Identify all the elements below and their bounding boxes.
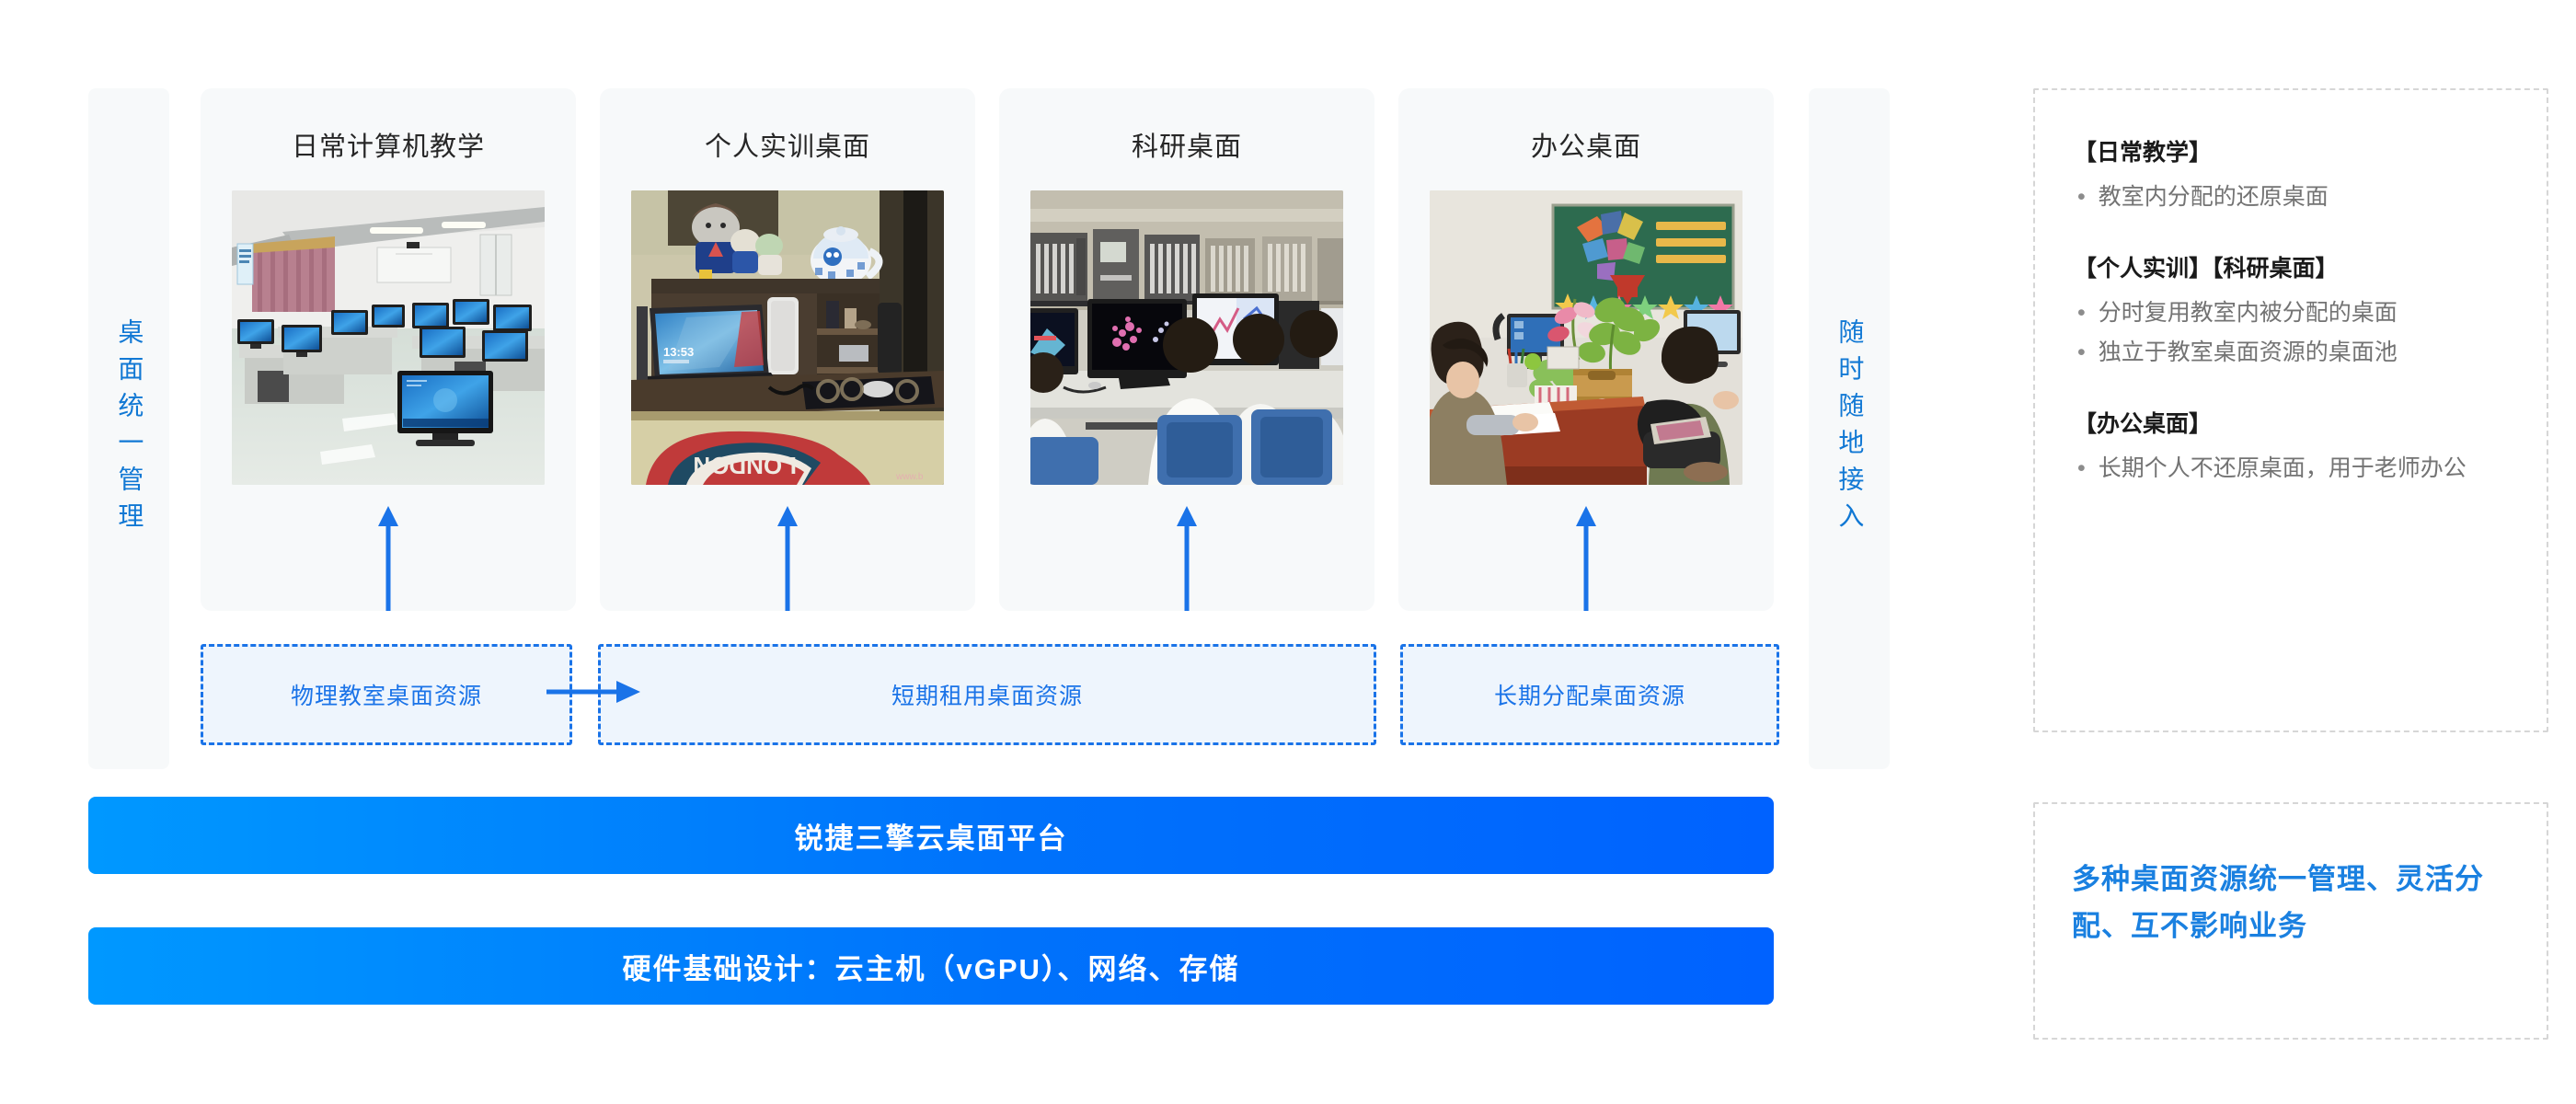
legend-group-daily-teaching: 【日常教学】 • 教室内分配的还原桌面 xyxy=(2074,138,2508,215)
legend-group-heading: 【日常教学】 xyxy=(2074,138,2508,169)
legend-item: • 独立于教室桌面资源的桌面池 xyxy=(2074,334,2508,372)
legend-panel: 【日常教学】 • 教室内分配的还原桌面 【个人实训】【科研桌面】 • 分时复用教… xyxy=(2033,88,2548,732)
legend-item: • 教室内分配的还原桌面 xyxy=(2074,178,2508,216)
legend-item: • 分时复用教室内被分配的桌面 xyxy=(2074,294,2508,332)
hardware-banner: 硬件基础设计：云主机（vGPU）、网络、存储 xyxy=(88,927,1774,1005)
left-rail-desktop-unified-management: 桌面统一管理 xyxy=(88,88,169,769)
scenario-card-research[interactable]: 科研桌面 xyxy=(999,88,1374,611)
legend-group-heading: 【个人实训】【科研桌面】 xyxy=(2074,254,2508,285)
legend-group-office: 【办公桌面】 • 长期个人不还原桌面，用于老师办公 xyxy=(2074,409,2508,487)
scenario-card-office[interactable]: 办公桌面 xyxy=(1398,88,1774,611)
summary-text: 多种桌面资源统一管理、灵活分配、互不影响业务 xyxy=(2072,856,2510,949)
legend-item-text: 长期个人不还原桌面，用于老师办公 xyxy=(2099,450,2508,488)
notes-column: 【日常教学】 • 教室内分配的还原桌面 【个人实训】【科研桌面】 • 分时复用教… xyxy=(1932,0,2576,1104)
resource-box-label: 长期分配桌面资源 xyxy=(1494,678,1685,711)
architecture-diagram: 桌面统一管理 随时随地接入 日常计算机教学 xyxy=(0,0,1932,1104)
platform-banner-label: 锐捷三擎云桌面平台 xyxy=(795,815,1068,857)
right-rail-label: 随时随地接入 xyxy=(1835,318,1864,539)
card-uplink-arrow xyxy=(1175,504,1199,611)
resource-box-label: 物理教室桌面资源 xyxy=(291,678,482,711)
resource-box-long-term-allocation[interactable]: 长期分配桌面资源 xyxy=(1400,644,1779,745)
resource-box-physical-classroom[interactable]: 物理教室桌面资源 xyxy=(201,644,572,745)
svg-text:www.b: www.b xyxy=(895,472,924,482)
legend-item: • 长期个人不还原桌面，用于老师办公 xyxy=(2074,450,2508,488)
legend-item-text: 分时复用教室内被分配的桌面 xyxy=(2099,294,2508,332)
scenario-card-title: 办公桌面 xyxy=(1531,134,1641,161)
card-uplink-arrow xyxy=(376,504,400,611)
legend-group-heading: 【办公桌面】 xyxy=(2074,409,2508,441)
svg-text:LONDON: LONDON xyxy=(693,452,797,479)
left-rail-label: 桌面统一管理 xyxy=(115,318,144,539)
svg-text:13:53: 13:53 xyxy=(663,345,694,359)
physical-to-shortterm-arrow xyxy=(546,679,642,705)
legend-group-training-research: 【个人实训】【科研桌面】 • 分时复用教室内被分配的桌面 • 独立于教室桌面资源… xyxy=(2074,254,2508,371)
teacher-office-photo xyxy=(1430,190,1742,485)
slide-root: 桌面统一管理 随时随地接入 日常计算机教学 xyxy=(0,0,2576,1104)
right-rail-anytime-anywhere-access: 随时随地接入 xyxy=(1809,88,1890,769)
bullet-icon: • xyxy=(2077,450,2086,488)
scenario-card-title: 个人实训桌面 xyxy=(705,134,870,161)
computer-classroom-photo xyxy=(232,190,545,485)
dorm-desk-laptop-photo: 13:53 xyxy=(631,190,944,485)
legend-item-text: 独立于教室桌面资源的桌面池 xyxy=(2099,334,2508,372)
bullet-icon: • xyxy=(2077,178,2086,216)
scenario-card-title: 日常计算机教学 xyxy=(292,134,485,161)
scenario-card-row: 日常计算机教学 xyxy=(201,88,1774,611)
scenario-card-personal-training[interactable]: 个人实训桌面 xyxy=(600,88,975,611)
card-uplink-arrow xyxy=(776,504,799,611)
resource-box-short-term-rental[interactable]: 短期租用桌面资源 xyxy=(598,644,1376,745)
platform-banner: 锐捷三擎云桌面平台 xyxy=(88,797,1774,874)
hardware-banner-label: 硬件基础设计：云主机（vGPU）、网络、存储 xyxy=(623,946,1240,987)
bullet-icon: • xyxy=(2077,294,2086,332)
scenario-card-title: 科研桌面 xyxy=(1132,134,1242,161)
resource-box-label: 短期租用桌面资源 xyxy=(891,678,1083,711)
card-uplink-arrow xyxy=(1574,504,1598,611)
summary-panel: 多种桌面资源统一管理、灵活分配、互不影响业务 xyxy=(2033,802,2548,1040)
legend-item-text: 教室内分配的还原桌面 xyxy=(2099,178,2508,216)
bullet-icon: • xyxy=(2077,334,2086,372)
research-lab-workstations-photo xyxy=(1030,190,1343,485)
scenario-card-daily-teaching[interactable]: 日常计算机教学 xyxy=(201,88,576,611)
